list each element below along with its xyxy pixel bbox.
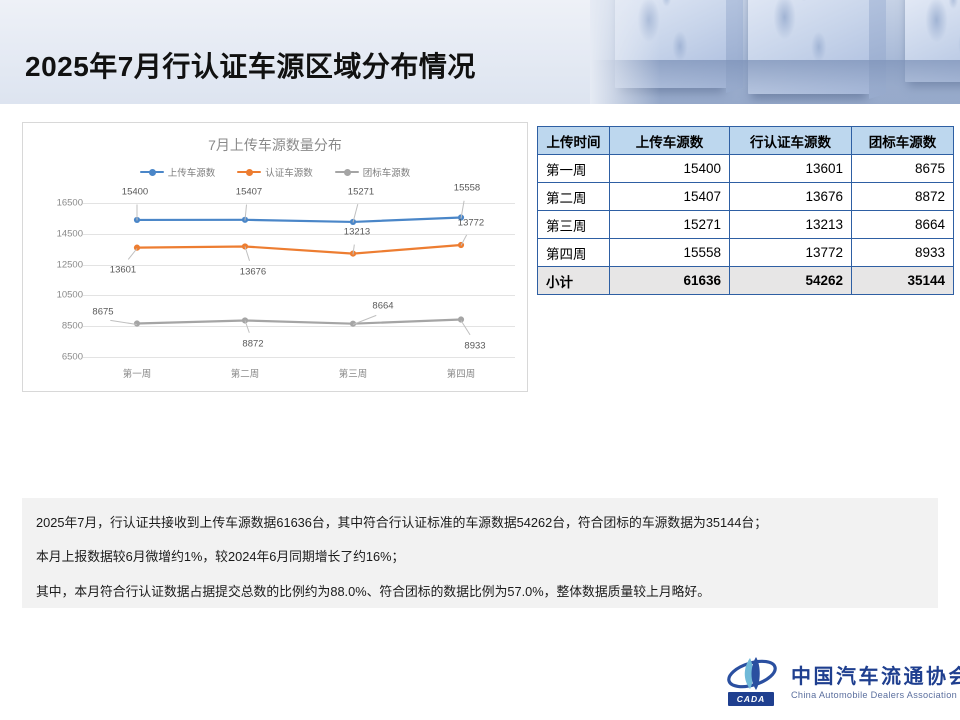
data-label: 15558 [454,182,480,193]
data-label: 8664 [372,300,393,311]
cada-logo: CADA 中国汽车流通协会 China Automobile Dealers A… [726,652,941,708]
legend-label: 认证车源数 [265,165,313,179]
table-row: 第三周15271132138664 [538,211,954,239]
table-header-cell: 团标车源数 [852,127,954,155]
table-cell: 15400 [610,155,730,183]
legend-swatch-icon [237,168,261,177]
series-line [137,320,461,324]
slide-root: 2025年7月行认证车源区域分布情况 7月上传车源数量分布 上传车源数认证车源数… [0,0,960,720]
data-label: 15400 [122,186,148,197]
notes-line-2: 本月上报数据较6月微增约1%，较2024年6月同期增长了约16%； [36,548,924,565]
table-header-cell: 行认证车源数 [730,127,852,155]
legend-item-2: 认证车源数 [237,165,313,179]
table-row: 第四周15558137728933 [538,239,954,267]
series-line [137,245,461,254]
chart-plot-area: 6500850010500125001450016500 15400154071… [23,191,529,391]
data-label: 13676 [240,267,266,278]
notes-line-1: 2025年7月，行认证共接收到上传车源数据61636台，其中符合行认证标准的车源… [36,514,924,531]
header-band: 2025年7月行认证车源区域分布情况 [0,0,960,104]
table-row: 第一周15400136018675 [538,155,954,183]
legend-item-3: 团标车源数 [335,165,411,179]
table-cell: 15271 [610,211,730,239]
header-art-fade [590,0,660,104]
data-label: 15271 [348,186,374,197]
table-cell: 8664 [852,211,954,239]
legend-label: 团标车源数 [363,165,411,179]
table-cell: 13772 [730,239,852,267]
logo-text: 中国汽车流通协会 China Automobile Dealers Associ… [791,660,960,700]
x-axis-tick-label: 第三周 [339,366,368,380]
page-title: 2025年7月行认证车源区域分布情况 [25,45,476,85]
table-cell: 8872 [852,183,954,211]
legend-item-1: 上传车源数 [140,165,216,179]
data-label: 13772 [458,218,484,229]
table-cell: 54262 [730,267,852,295]
table-cell: 第四周 [538,239,610,267]
header-decorative-image [590,0,960,104]
cada-badge: CADA [728,692,774,706]
table-cell: 13676 [730,183,852,211]
data-label-leader [137,204,138,220]
table-cell: 第一周 [538,155,610,183]
table-header-cell: 上传车源数 [610,127,730,155]
table-row: 第二周15407136768872 [538,183,954,211]
logo-english-name: China Automobile Dealers Association [791,690,960,700]
data-label: 8872 [242,339,263,350]
data-table: 上传时间 上传车源数 行认证车源数 团标车源数 第一周1540013601867… [537,126,954,295]
data-label: 8675 [92,306,113,317]
data-label: 13601 [110,264,136,275]
table-cell: 第三周 [538,211,610,239]
table-header-cell: 上传时间 [538,127,610,155]
chart-title: 7月上传车源数量分布 [23,135,527,155]
notes-line-3: 其中，本月符合行认证数据占据提交总数的比例约为88.0%、符合团标的数据比例为5… [36,583,924,600]
data-label: 13213 [344,226,370,237]
table-cell: 15407 [610,183,730,211]
series-line [137,218,461,222]
table-cell: 第二周 [538,183,610,211]
legend-label: 上传车源数 [168,165,216,179]
table-cell: 8675 [852,155,954,183]
chart-series-lines [23,191,529,391]
table-header-row: 上传时间 上传车源数 行认证车源数 团标车源数 [538,127,954,155]
table-cell: 小计 [538,267,610,295]
table-cell: 13601 [730,155,852,183]
table-cell: 35144 [852,267,954,295]
notes-box: 2025年7月，行认证共接收到上传车源数据61636台，其中符合行认证标准的车源… [22,498,938,608]
legend-swatch-icon [140,168,164,177]
table-row: 小计616365426235144 [538,267,954,295]
table-cell: 13213 [730,211,852,239]
x-axis-tick-label: 第四周 [447,366,476,380]
x-axis-tick-label: 第一周 [123,366,152,380]
x-axis-tick-label: 第二周 [231,366,260,380]
data-label: 15407 [236,186,262,197]
cada-emblem-icon: CADA [726,654,782,706]
data-label: 8933 [464,340,485,351]
chart-panel: 7月上传车源数量分布 上传车源数认证车源数团标车源数 6500850010500… [22,122,528,392]
chart-legend: 上传车源数认证车源数团标车源数 [23,165,527,179]
table-cell: 8933 [852,239,954,267]
table-cell: 61636 [610,267,730,295]
logo-chinese-name: 中国汽车流通协会 [791,660,960,689]
table-cell: 15558 [610,239,730,267]
legend-swatch-icon [335,168,359,177]
